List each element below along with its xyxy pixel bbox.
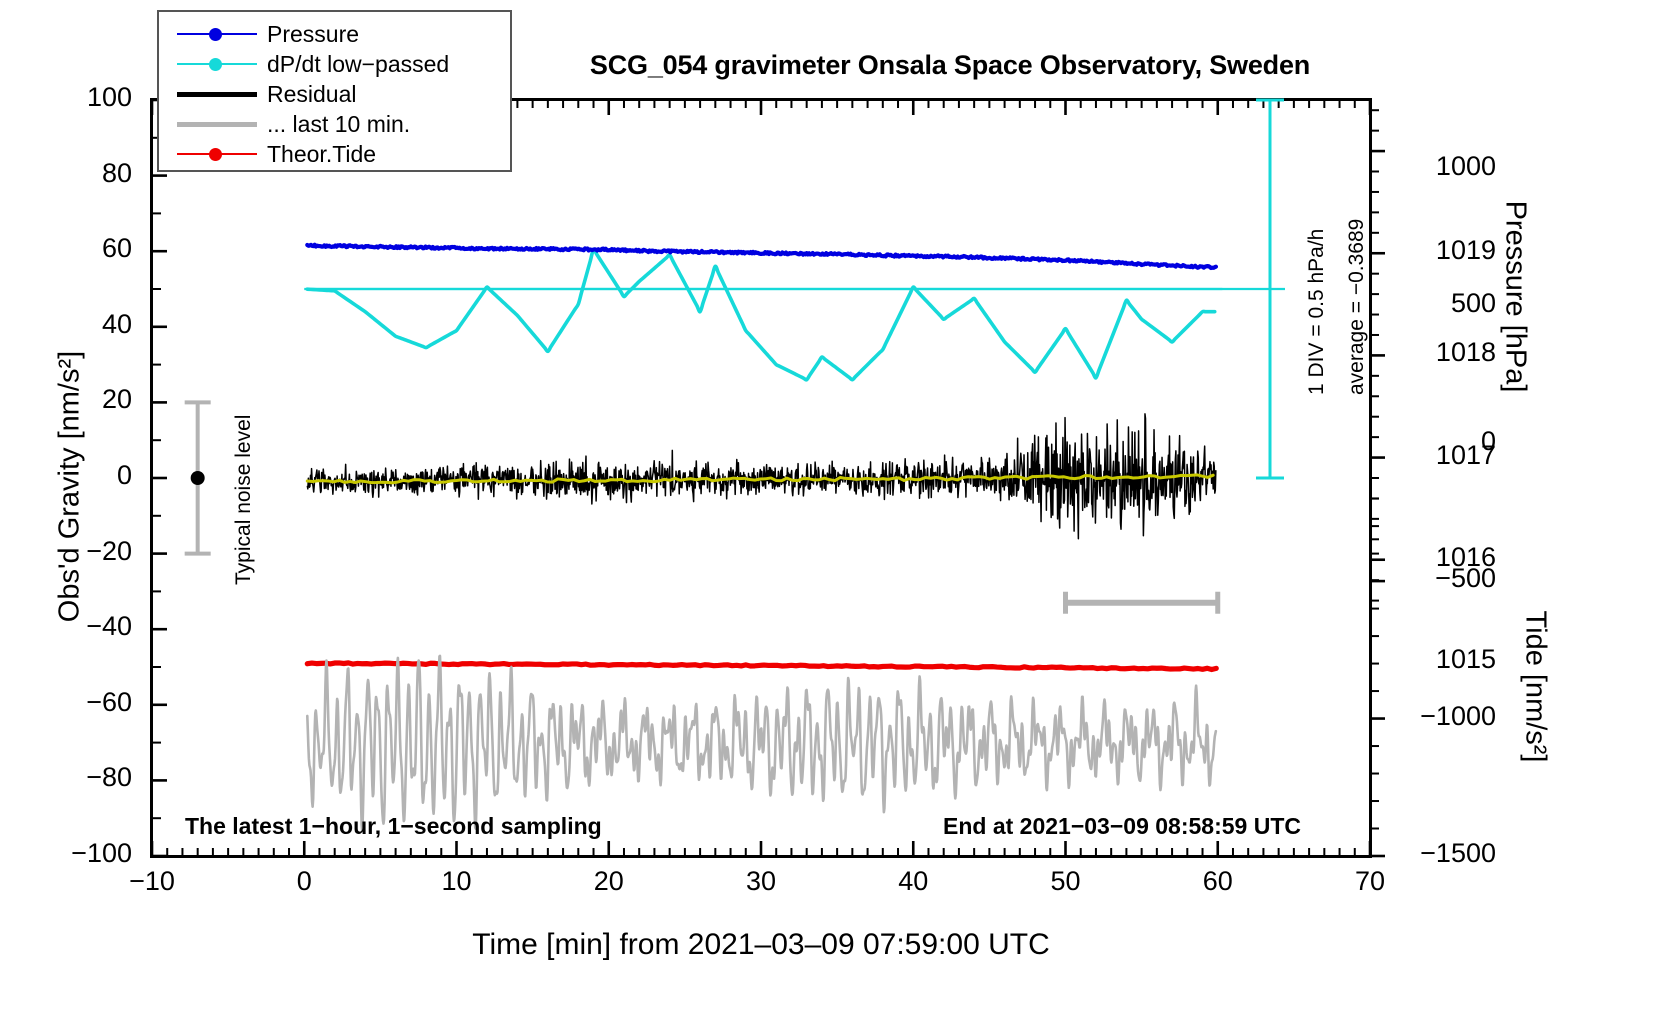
average-note: average = −0.3689 bbox=[1345, 219, 1369, 395]
y-tick-label-gravity: −60 bbox=[22, 687, 132, 718]
footer-note-endtime: End at 2021−03−09 08:58:59 UTC bbox=[943, 813, 1301, 840]
legend-item[interactable]: Pressure bbox=[159, 19, 510, 49]
chart-page: SCG_054 gravimeter Onsala Space Observat… bbox=[0, 0, 1660, 1020]
x-tick-label: 60 bbox=[1173, 866, 1263, 897]
trace-theoretical-tide bbox=[307, 663, 1216, 670]
typical-noise-center-dot bbox=[191, 471, 205, 485]
x-tick-label: 0 bbox=[259, 866, 349, 897]
legend-item-label: Pressure bbox=[267, 21, 359, 48]
legend-item[interactable]: Residual bbox=[159, 79, 510, 109]
legend-item-label: Theor.Tide bbox=[267, 141, 376, 168]
y-tick-label-gravity: −20 bbox=[22, 536, 132, 567]
y-tick-label-gravity: −40 bbox=[22, 611, 132, 642]
trace-pressure bbox=[307, 245, 1216, 268]
legend-line-icon bbox=[177, 92, 257, 97]
y-tick-label-tide: 500 bbox=[1400, 288, 1496, 319]
legend-swatch-icon bbox=[177, 145, 257, 163]
x-tick-label: 50 bbox=[1021, 866, 1111, 897]
x-tick-label: 30 bbox=[716, 866, 806, 897]
data-traces bbox=[304, 245, 1285, 831]
y-tick-label-gravity: 60 bbox=[22, 233, 132, 264]
y-tick-label-pressure: 1019 bbox=[1400, 235, 1496, 266]
x-tick-label: 10 bbox=[412, 866, 502, 897]
x-tick-label: 20 bbox=[564, 866, 654, 897]
legend-swatch-icon bbox=[177, 85, 257, 103]
y-tick-label-pressure: 1018 bbox=[1400, 337, 1496, 368]
annotation-marks bbox=[185, 100, 1284, 614]
typical-noise-level-label: Typical noise level bbox=[232, 415, 256, 585]
legend-item[interactable]: dP/dt low−passed bbox=[159, 49, 510, 79]
trace-last-10-min bbox=[307, 656, 1216, 831]
y-tick-label-tide: 1000 bbox=[1400, 151, 1496, 182]
y-tick-label-gravity: 80 bbox=[22, 158, 132, 189]
legend-item[interactable]: Theor.Tide bbox=[159, 139, 510, 169]
legend-item-label: ... last 10 min. bbox=[267, 111, 410, 138]
trace-residual bbox=[307, 414, 1216, 539]
legend-item-label: dP/dt low−passed bbox=[267, 51, 449, 78]
trace-dpdt-lowpassed bbox=[307, 249, 1214, 380]
legend-dot-icon bbox=[209, 28, 222, 41]
legend-swatch-icon bbox=[177, 25, 257, 43]
y-tick-label-gravity: −100 bbox=[22, 838, 132, 869]
y-tick-label-gravity: 40 bbox=[22, 309, 132, 340]
y-tick-label-tide: −1500 bbox=[1400, 838, 1496, 869]
legend: PressuredP/dt low−passedResidual... last… bbox=[157, 10, 512, 172]
y-tick-label-gravity: −80 bbox=[22, 762, 132, 793]
y-tick-label-tide: −500 bbox=[1400, 563, 1496, 594]
legend-line-icon bbox=[177, 122, 257, 127]
legend-swatch-icon bbox=[177, 115, 257, 133]
y-tick-label-gravity: 0 bbox=[22, 460, 132, 491]
div-scale-note: 1 DIV = 0.5 hPa/h bbox=[1305, 229, 1329, 395]
footer-note-sampling: The latest 1−hour, 1−second sampling bbox=[185, 813, 602, 840]
y-tick-label-tide: −1000 bbox=[1400, 701, 1496, 732]
y-tick-label-gravity: 20 bbox=[22, 384, 132, 415]
legend-dot-icon bbox=[209, 148, 222, 161]
legend-dot-icon bbox=[209, 58, 222, 71]
y-tick-label-gravity: 100 bbox=[22, 82, 132, 113]
x-tick-label: 70 bbox=[1325, 866, 1415, 897]
legend-swatch-icon bbox=[177, 55, 257, 73]
x-tick-label: −10 bbox=[107, 866, 197, 897]
y-tick-label-tide: 0 bbox=[1400, 426, 1496, 457]
y-tick-label-pressure: 1015 bbox=[1400, 644, 1496, 675]
legend-item[interactable]: ... last 10 min. bbox=[159, 109, 510, 139]
legend-item-label: Residual bbox=[267, 81, 357, 108]
x-tick-label: 40 bbox=[868, 866, 958, 897]
